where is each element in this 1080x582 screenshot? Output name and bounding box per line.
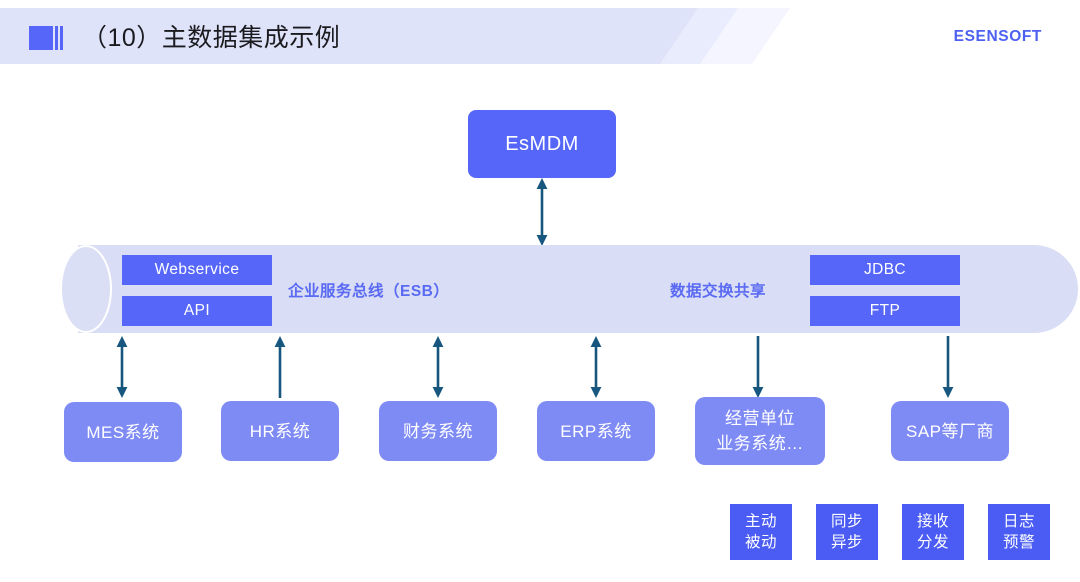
system-node-hr-line-1: HR系统 — [250, 419, 311, 444]
connector-esmdm-bus — [530, 178, 554, 246]
connector-bus-mes — [110, 336, 134, 398]
bus-label-esb: 企业服务总线（ESB） — [288, 279, 449, 301]
page-title: （10）主数据集成示例 — [82, 19, 340, 57]
protocol-chip-webservice-label: Webservice — [155, 261, 240, 279]
feature-chip-active-passive[interactable]: 主动 被动 — [730, 504, 792, 560]
square-bars-icon-bar-1 — [55, 26, 58, 50]
system-node-erp[interactable]: ERP系统 — [537, 401, 655, 461]
square-bars-icon — [29, 26, 66, 50]
bus-label-data-share: 数据交换共享 — [670, 279, 766, 301]
system-node-business-unit-line-2: 业务系统… — [716, 431, 804, 456]
service-bus-left-cap — [60, 245, 112, 333]
feature-chip-log-alert-line-2: 预警 — [1003, 532, 1035, 553]
system-node-erp-line-1: ERP系统 — [560, 419, 631, 444]
protocol-chip-api-label: API — [184, 302, 210, 320]
system-node-hr[interactable]: HR系统 — [221, 401, 339, 461]
system-node-mes[interactable]: MES系统 — [64, 402, 182, 462]
feature-chip-receive-dispatch-line-2: 分发 — [917, 532, 949, 553]
feature-chip-log-alert[interactable]: 日志 预警 — [988, 504, 1050, 560]
connector-bus-biz — [746, 336, 770, 398]
protocol-chip-jdbc[interactable]: JDBC — [810, 255, 960, 285]
protocol-chip-jdbc-label: JDBC — [864, 261, 906, 279]
square-bars-icon-square — [29, 26, 53, 50]
system-node-sap-line-1: SAP等厂商 — [906, 419, 994, 444]
system-node-mes-line-1: MES系统 — [86, 420, 159, 445]
esmdm-node[interactable]: EsMDM — [468, 110, 616, 178]
connector-bus-sap — [936, 336, 960, 398]
feature-chip-sync-async-line-2: 异步 — [831, 532, 863, 553]
feature-chip-receive-dispatch[interactable]: 接收 分发 — [902, 504, 964, 560]
system-node-finance-line-1: 财务系统 — [403, 419, 473, 444]
feature-chip-sync-async-line-1: 同步 — [831, 511, 863, 532]
service-bus: 企业服务总线（ESB） 数据交换共享 Webservice API JDBC F… — [60, 245, 1078, 333]
protocol-chip-api[interactable]: API — [122, 296, 272, 326]
brand-logo: ESENSOFT — [954, 28, 1042, 46]
square-bars-icon-bar-2 — [60, 26, 63, 50]
system-node-finance[interactable]: 财务系统 — [379, 401, 497, 461]
protocol-chip-webservice[interactable]: Webservice — [122, 255, 272, 285]
feature-chip-receive-dispatch-line-1: 接收 — [917, 511, 949, 532]
feature-chip-log-alert-line-1: 日志 — [1003, 511, 1035, 532]
protocol-chip-ftp-label: FTP — [870, 302, 900, 320]
feature-chip-sync-async[interactable]: 同步 异步 — [816, 504, 878, 560]
connector-bus-hr — [268, 336, 292, 398]
system-node-sap[interactable]: SAP等厂商 — [891, 401, 1009, 461]
connector-bus-erp — [584, 336, 608, 398]
esmdm-label: EsMDM — [505, 133, 579, 156]
feature-chip-active-passive-line-1: 主动 — [745, 511, 777, 532]
system-node-business-unit[interactable]: 经营单位 业务系统… — [695, 397, 825, 465]
feature-chip-active-passive-line-2: 被动 — [745, 532, 777, 553]
protocol-chip-ftp[interactable]: FTP — [810, 296, 960, 326]
system-node-business-unit-line-1: 经营单位 — [725, 406, 795, 431]
connector-bus-fin — [426, 336, 450, 398]
